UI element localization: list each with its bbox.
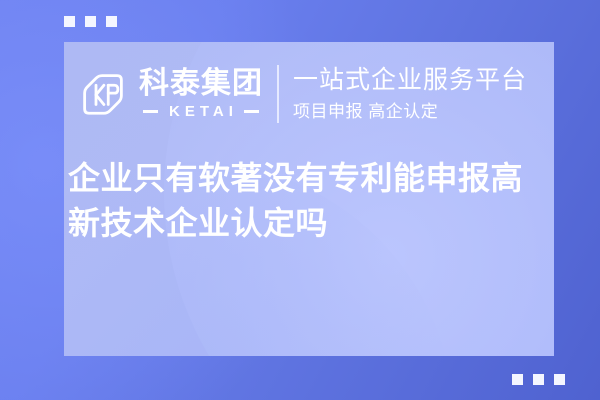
page-title: 企业只有软著没有专利能申报高新技术企业认定吗	[68, 156, 546, 247]
decor-square-icon	[106, 16, 117, 27]
brand-name-cn: 科泰集团	[139, 69, 263, 99]
brand-name-en-row: KETAI	[143, 104, 259, 119]
brand-name-en: KETAI	[164, 104, 238, 119]
decor-square-icon	[533, 374, 544, 385]
decor-squares-top-left	[64, 16, 117, 27]
brand-wordmark: 科泰集团 KETAI	[139, 69, 263, 119]
brand-rule-right-icon	[244, 110, 259, 113]
content-card: 科泰集团 KETAI 一站式企业服务平台 项目申报 高企认定 企业只有软著没有专…	[64, 42, 554, 356]
decor-squares-bottom-right	[512, 374, 565, 385]
poster-canvas: 科泰集团 KETAI 一站式企业服务平台 项目申报 高企认定 企业只有软著没有专…	[0, 0, 600, 400]
slogan-secondary: 项目申报 高企认定	[293, 102, 527, 122]
decor-square-icon	[554, 374, 565, 385]
card-header: 科泰集团 KETAI 一站式企业服务平台 项目申报 高企认定	[64, 42, 554, 146]
brand-rule-left-icon	[143, 110, 158, 113]
ketai-kp-monogram-logo-icon	[75, 66, 131, 122]
slogan-block: 一站式企业服务平台 项目申报 高企认定	[293, 66, 527, 121]
brand-lockup: 科泰集团 KETAI	[75, 66, 263, 122]
slogan-primary: 一站式企业服务平台	[293, 66, 527, 95]
header-divider	[277, 65, 279, 123]
decor-square-icon	[85, 16, 96, 27]
decor-square-icon	[64, 16, 75, 27]
decor-square-icon	[512, 374, 523, 385]
